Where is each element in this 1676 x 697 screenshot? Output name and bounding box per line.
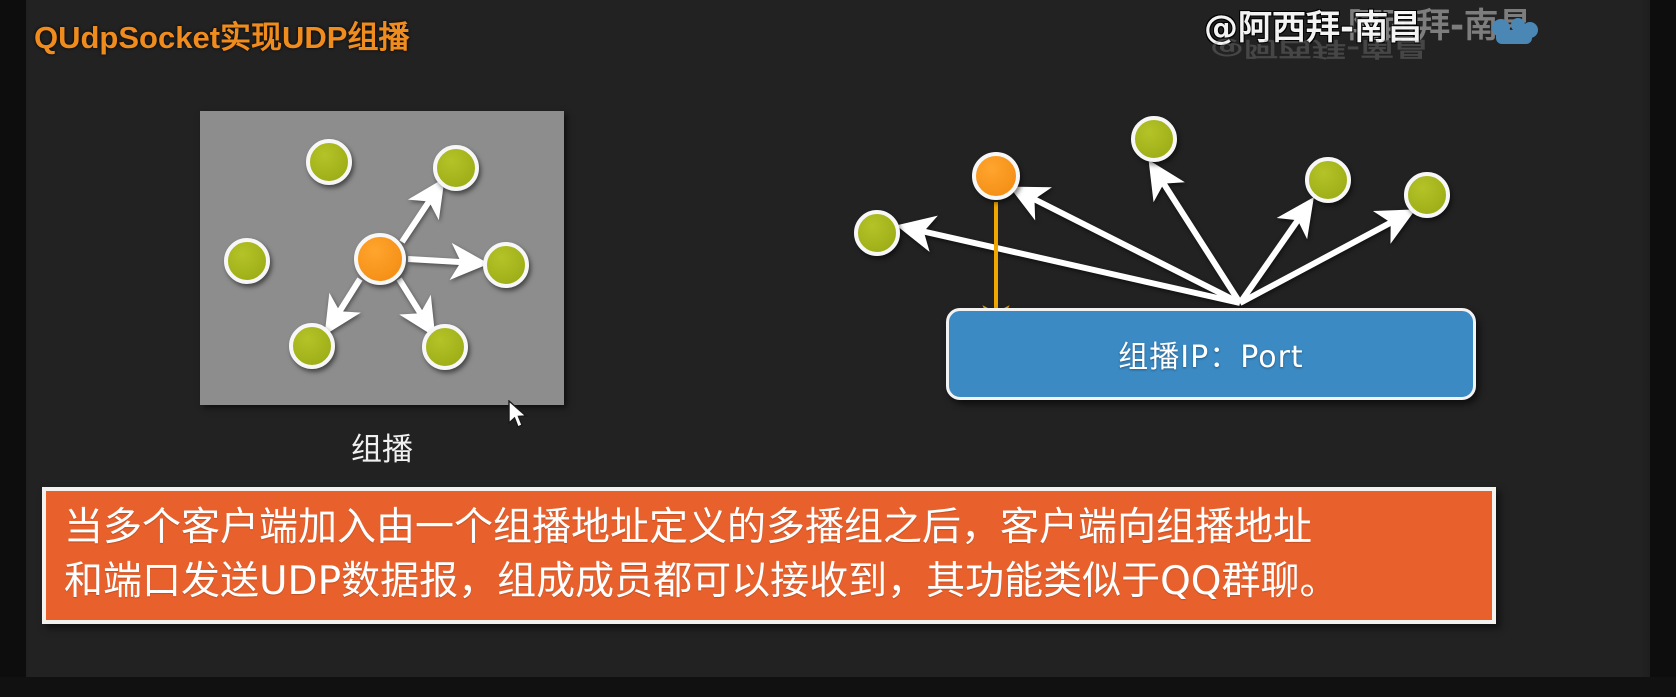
description-panel: 当多个客户端加入由一个组播地址定义的多播组之后，客户端向组播地址 和端口发送UD… <box>42 487 1496 624</box>
left-node-peer-upper-right <box>433 145 479 191</box>
right-node-peer-right-1 <box>1305 157 1351 203</box>
mouse-cursor-icon <box>508 400 530 432</box>
left-edge-bar <box>0 0 26 697</box>
left-node-peer-top <box>306 139 352 185</box>
page-title: QUdpSocket实现UDP组播 <box>34 12 409 57</box>
watermark-secondary-text: 阿西拜-南昌 <box>1348 0 1532 47</box>
watermark-reflection-text: @阿西拜-南昌 <box>1210 36 1428 65</box>
right-node-sender <box>972 152 1020 200</box>
bottom-edge-bar <box>0 677 1676 697</box>
left-node-peer-right <box>483 242 529 288</box>
left-node-peer-lower-left <box>289 323 335 369</box>
multicast-address-box: 组播IP：Port <box>946 308 1476 400</box>
multicast-address-label: 组播IP：Port <box>1118 332 1303 376</box>
watermark-blob-icon <box>1488 18 1540 48</box>
slide-canvas: QUdpSocket实现UDP组播 阿西拜-南昌 @阿西拜-南昌 @阿西拜-南昌 <box>0 0 1676 697</box>
watermark-primary-text: @阿西拜-南昌 <box>1204 0 1422 49</box>
right-edge-bar <box>1650 0 1676 697</box>
right-node-peer-top <box>1131 116 1177 162</box>
right-node-peer-left <box>854 210 900 256</box>
left-node-peer-left <box>224 238 270 284</box>
left-node-peer-lower-right <box>422 324 468 370</box>
left-multicast-illustration <box>200 111 564 405</box>
watermark: 阿西拜-南昌 @阿西拜-南昌 @阿西拜-南昌 <box>1198 0 1668 60</box>
right-node-peer-right-2 <box>1404 172 1450 218</box>
description-text: 当多个客户端加入由一个组播地址定义的多播组之后，客户端向组播地址 和端口发送UD… <box>64 501 1478 609</box>
left-node-hub <box>354 233 406 285</box>
